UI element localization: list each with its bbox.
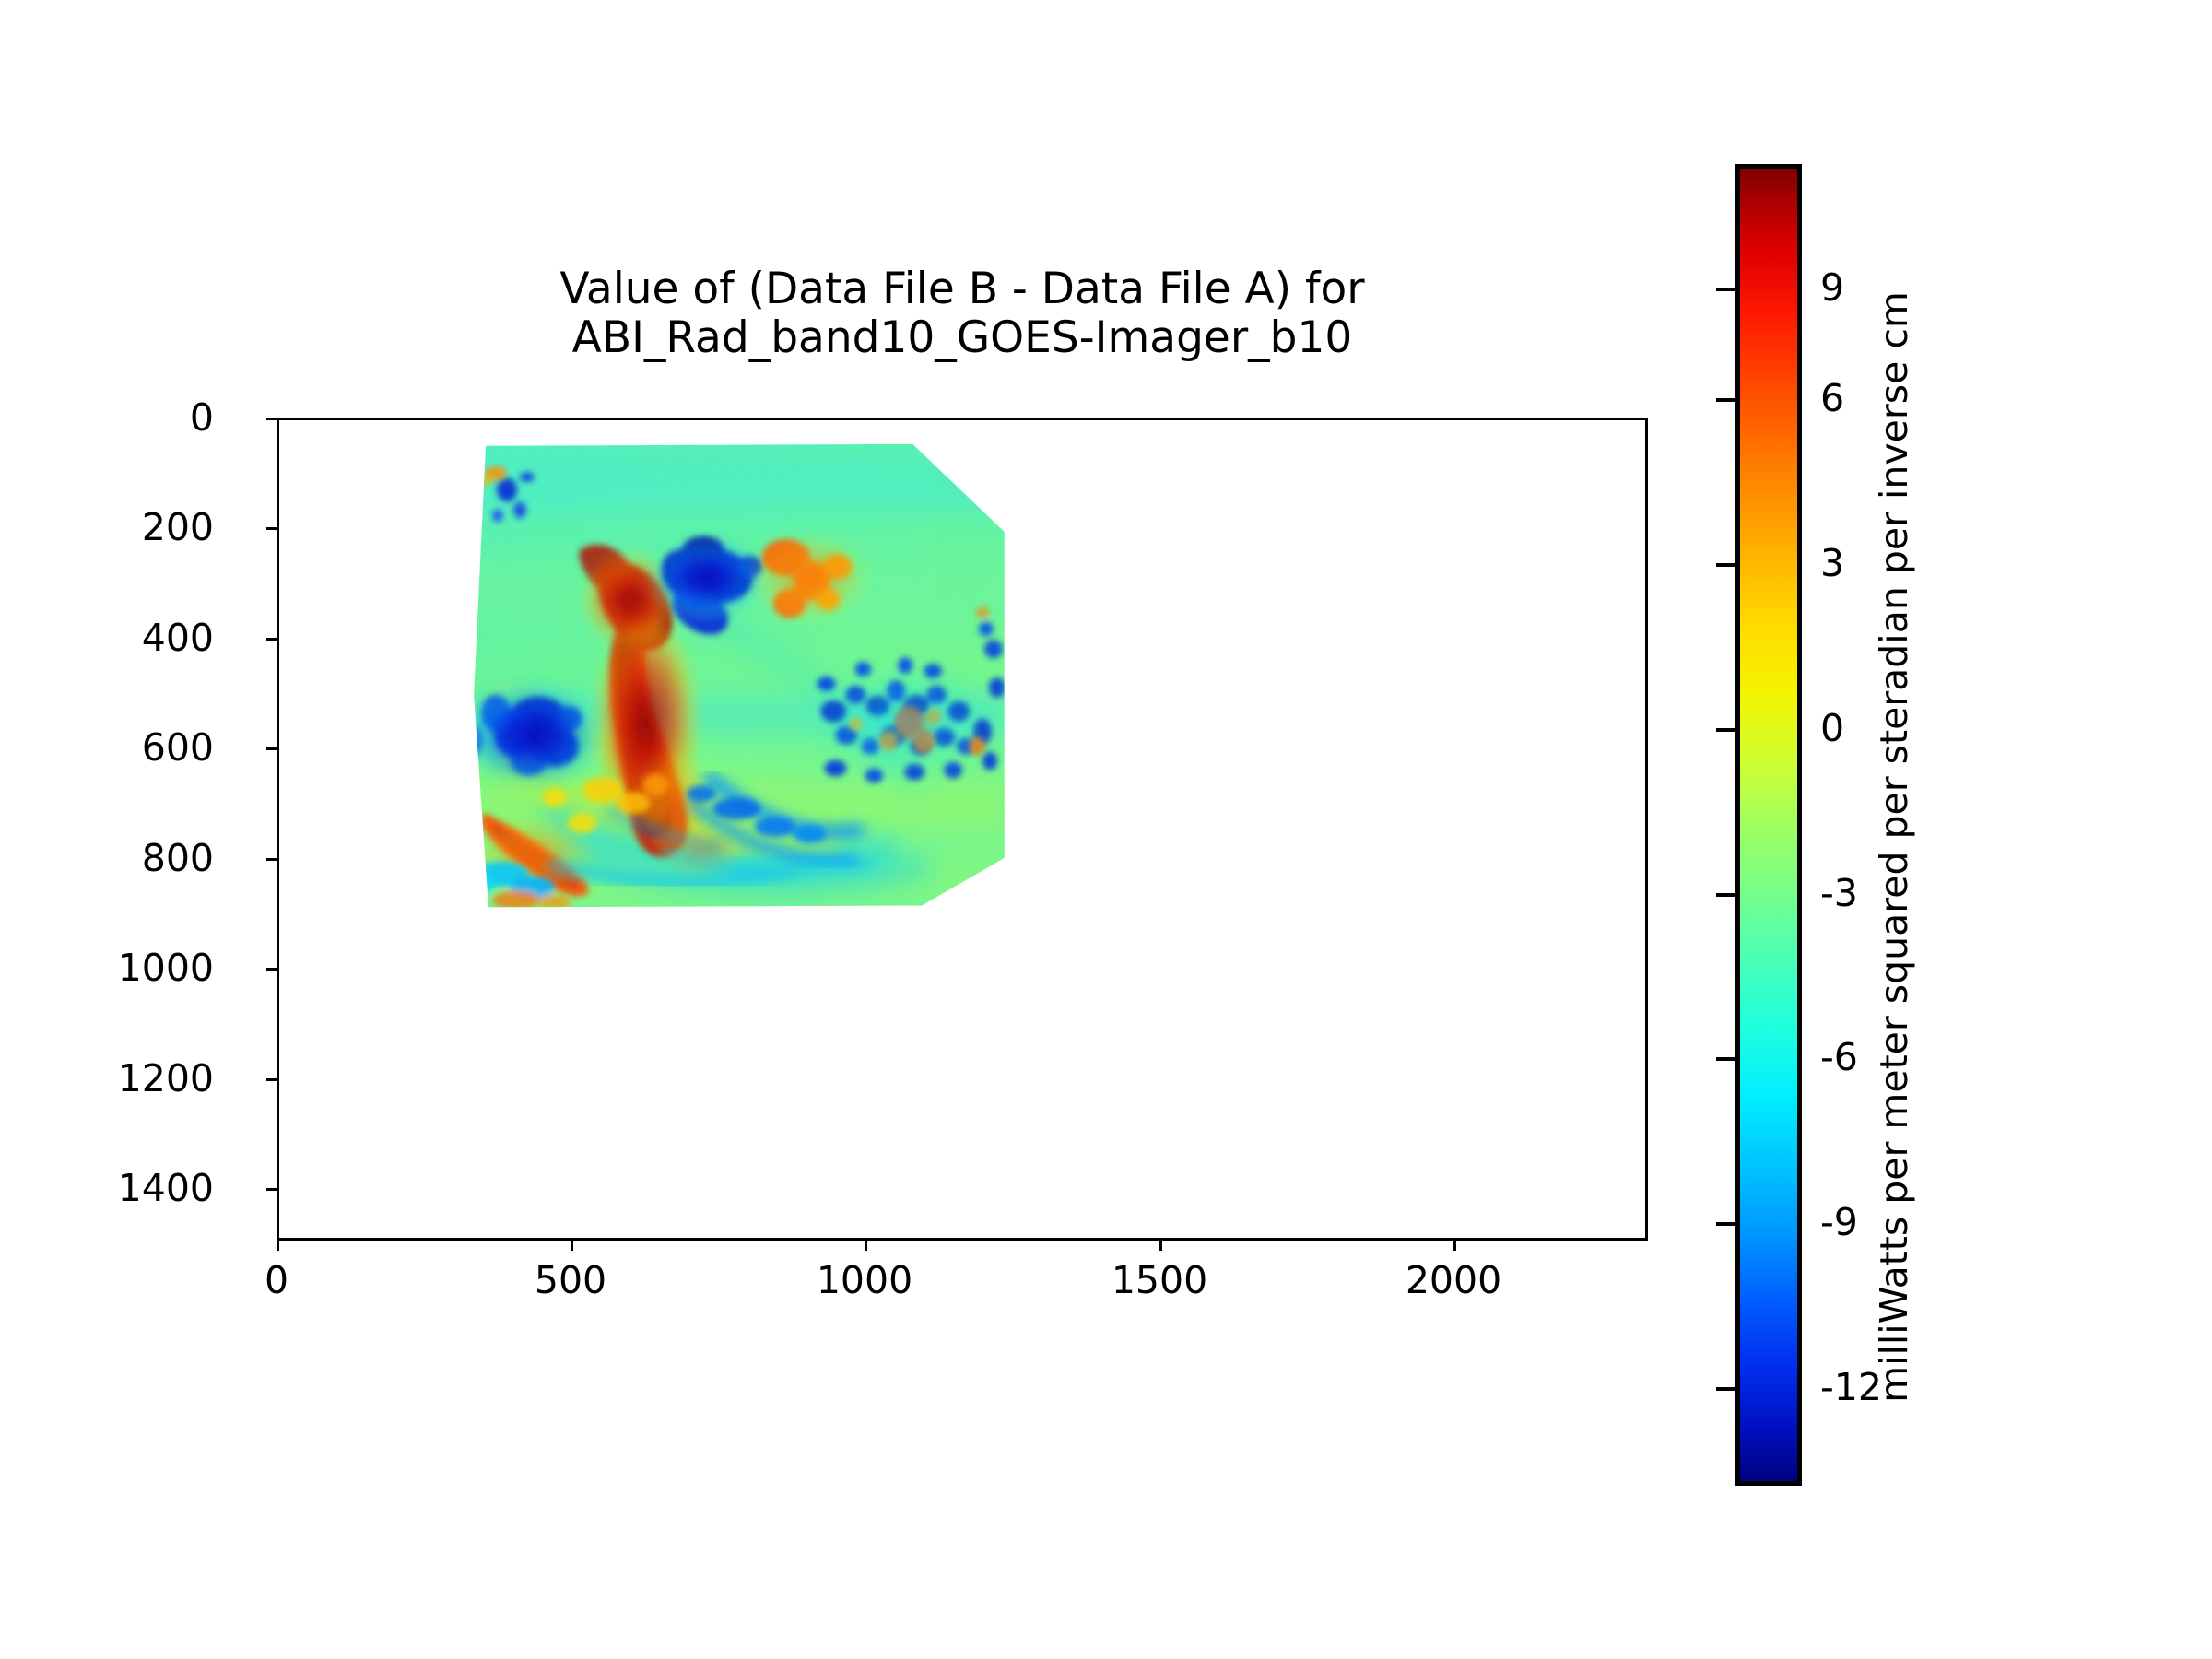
colorbar-tick-label--3: -3 xyxy=(1820,871,1858,915)
xtick-mark-2000 xyxy=(1453,1241,1456,1251)
ytick-label-600: 600 xyxy=(142,725,214,770)
colorbar-tick-label-0: 0 xyxy=(1820,706,1844,750)
xtick-mark-500 xyxy=(571,1241,573,1251)
main-axes xyxy=(276,418,1648,1241)
colorbar-gradient-jet xyxy=(1740,169,1797,1481)
colorbar-tick-mark--12 xyxy=(1716,1387,1735,1391)
xtick-mark-1500 xyxy=(1159,1241,1162,1251)
xtick-label-500: 500 xyxy=(535,1258,606,1302)
xtick-mark-0 xyxy=(276,1241,279,1251)
chart-title-line-1: Value of (Data File B - Data File A) for xyxy=(276,265,1648,314)
ytick-mark-1400 xyxy=(266,1188,276,1191)
colorbar-tick-mark--9 xyxy=(1716,1222,1735,1226)
xtick-label-1000: 1000 xyxy=(817,1258,912,1302)
xtick-mark-1000 xyxy=(865,1241,867,1251)
colorbar-tick-label--6: -6 xyxy=(1820,1035,1858,1079)
ytick-mark-1200 xyxy=(266,1078,276,1081)
ytick-label-0: 0 xyxy=(190,395,214,440)
xtick-label-1500: 1500 xyxy=(1112,1258,1207,1302)
colorbar-tick-mark-3 xyxy=(1716,563,1735,567)
ytick-mark-800 xyxy=(266,858,276,861)
colorbar[interactable] xyxy=(1735,164,1802,1486)
ytick-mark-0 xyxy=(266,418,276,420)
ytick-mark-600 xyxy=(266,747,276,750)
colorbar-tick-mark-6 xyxy=(1716,398,1735,402)
ytick-label-800: 800 xyxy=(142,836,214,880)
ytick-mark-200 xyxy=(266,527,276,530)
matplotlib-figure: Value of (Data File B - Data File A) for… xyxy=(0,0,2212,1659)
colorbar-tick-mark-9 xyxy=(1716,288,1735,291)
colorbar-tick-label-6: 6 xyxy=(1820,376,1844,420)
ytick-mark-1000 xyxy=(266,968,276,971)
colorbar-tick-label--9: -9 xyxy=(1820,1200,1858,1244)
colorbar-tick-label-9: 9 xyxy=(1820,265,1844,310)
chart-title-line-2: ABI_Rad_band10_GOES-Imager_b10 xyxy=(276,314,1648,363)
chart-title: Value of (Data File B - Data File A) for… xyxy=(276,265,1648,362)
colorbar-tick-mark--6 xyxy=(1716,1057,1735,1061)
heatmap-image xyxy=(279,420,1645,1238)
ytick-label-1400: 1400 xyxy=(118,1166,214,1210)
colorbar-tick-mark-0 xyxy=(1716,728,1735,732)
ytick-label-400: 400 xyxy=(142,616,214,660)
ytick-mark-400 xyxy=(266,638,276,641)
xtick-label-0: 0 xyxy=(265,1258,288,1302)
colorbar-axis-label: milliWatts per meter squared per steradi… xyxy=(1872,291,1916,1403)
ytick-label-200: 200 xyxy=(142,505,214,549)
ytick-label-1200: 1200 xyxy=(118,1056,214,1100)
colorbar-tick-label-3: 3 xyxy=(1820,541,1844,585)
colorbar-tick-mark--3 xyxy=(1716,893,1735,897)
xtick-label-2000: 2000 xyxy=(1406,1258,1501,1302)
ytick-label-1000: 1000 xyxy=(118,946,214,990)
